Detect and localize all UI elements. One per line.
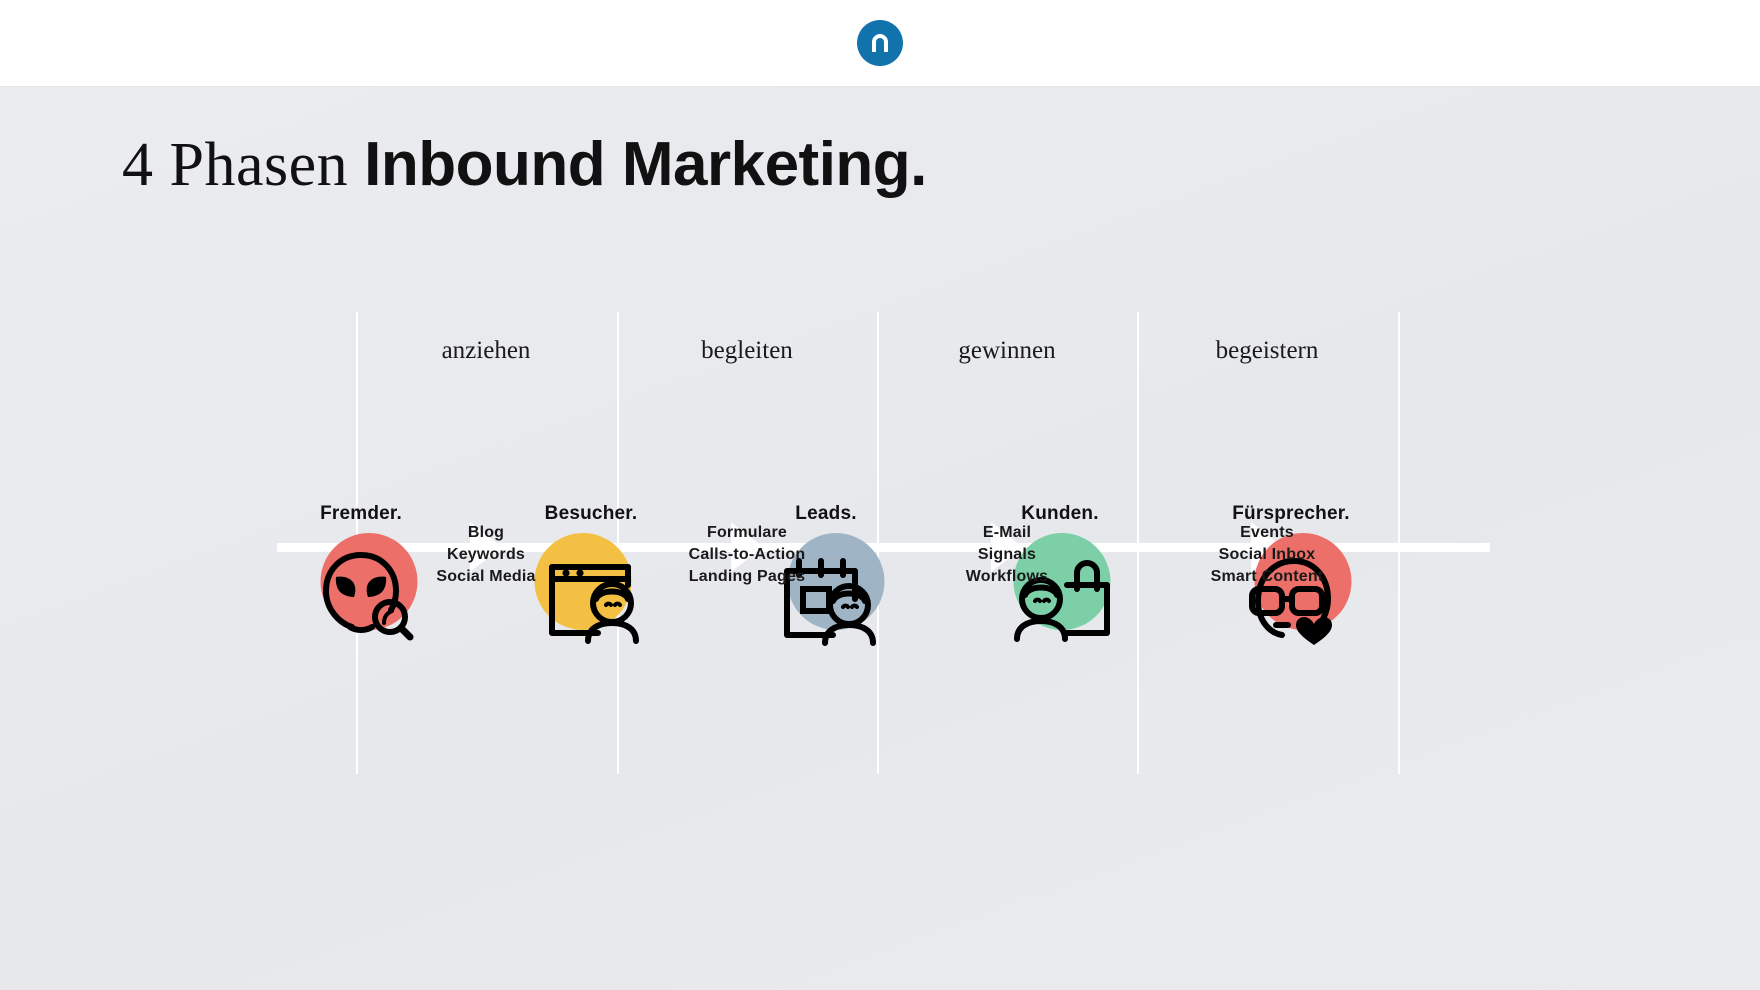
top-bar bbox=[0, 0, 1760, 87]
tactic-item: Landing Pages bbox=[617, 566, 877, 588]
phase-label-begeistern: begeistern bbox=[1147, 337, 1387, 365]
tactic-item: Calls-to-Action bbox=[617, 544, 877, 566]
page-title-bold: Inbound Marketing. bbox=[364, 130, 927, 199]
phase-label-begleiten: begleiten bbox=[627, 337, 867, 365]
novu-logo-icon[interactable] bbox=[857, 20, 903, 66]
tactics-begeistern: Events Social Inbox Smart Content bbox=[1137, 522, 1397, 588]
tactic-item: Smart Content bbox=[1137, 566, 1397, 588]
tactic-item: Signals bbox=[877, 544, 1137, 566]
phase-label-gewinnen: gewinnen bbox=[887, 337, 1127, 365]
page-title: 4 Phasen Inbound Marketing. bbox=[122, 134, 927, 196]
tactics-gewinnen: E-Mail Signals Workflows bbox=[877, 522, 1137, 588]
tactics-anziehen: Blog Keywords Social Media bbox=[356, 522, 616, 588]
phase-label-anziehen: anziehen bbox=[366, 337, 606, 365]
slide-canvas: 4 Phasen Inbound Marketing. anziehen beg… bbox=[0, 87, 1760, 990]
tactic-item: Blog bbox=[356, 522, 616, 544]
tactic-item: Social Media bbox=[356, 566, 616, 588]
tactic-item: Workflows bbox=[877, 566, 1137, 588]
page-title-serif: 4 Phasen bbox=[122, 131, 364, 199]
tactics-begleiten: Formulare Calls-to-Action Landing Pages bbox=[617, 522, 877, 588]
tactic-item: Formulare bbox=[617, 522, 877, 544]
tactic-item: Keywords bbox=[356, 544, 616, 566]
tactic-item: Social Inbox bbox=[1137, 544, 1397, 566]
tactic-item: E-Mail bbox=[877, 522, 1137, 544]
tactic-item: Events bbox=[1137, 522, 1397, 544]
